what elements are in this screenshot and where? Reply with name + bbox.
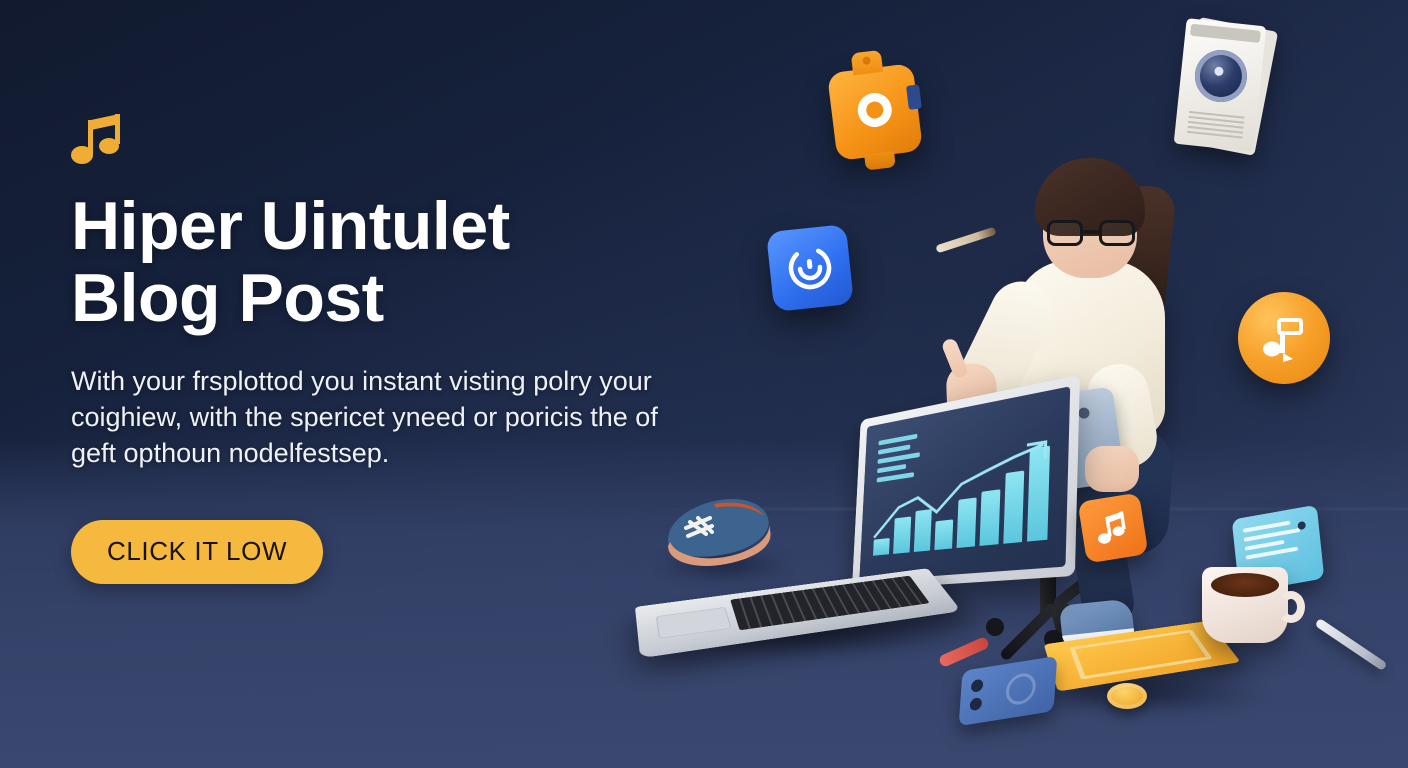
orange-location-cube-icon bbox=[827, 63, 923, 161]
laptop-base bbox=[635, 568, 961, 658]
cube-top-tab bbox=[851, 50, 883, 75]
music-note-icon bbox=[71, 112, 125, 170]
location-pin-glyph bbox=[849, 86, 900, 137]
cup-handle bbox=[1277, 591, 1305, 623]
music-note-glyph bbox=[1259, 313, 1309, 363]
laptop-screen bbox=[859, 386, 1070, 581]
orange-music-badge-icon bbox=[1238, 292, 1330, 384]
laptop-trackpad[interactable] bbox=[656, 607, 732, 639]
hero-copy: Hiper Uintulet Blog Post With your frspl… bbox=[71, 112, 671, 584]
phone-hand bbox=[1085, 446, 1139, 492]
gold-coin bbox=[1107, 683, 1147, 709]
laptop bbox=[640, 398, 970, 668]
index-finger bbox=[940, 337, 969, 380]
laptop-lid bbox=[852, 375, 1080, 590]
page-title: Hiper Uintulet Blog Post bbox=[71, 190, 671, 334]
music-card-icon bbox=[1078, 493, 1149, 564]
pencil bbox=[935, 227, 996, 254]
hero-description: With your frsplottod you instant visting… bbox=[71, 364, 661, 472]
coffee-cup bbox=[1202, 567, 1288, 643]
cube-foot bbox=[864, 151, 896, 171]
smiley-face-glyph bbox=[781, 239, 838, 296]
stylus-pen bbox=[1314, 618, 1387, 671]
hero-illustration bbox=[620, 0, 1408, 768]
cta-button[interactable]: CLICK IT LOW bbox=[71, 520, 323, 584]
cube-side-chip bbox=[906, 84, 922, 109]
phone-flat bbox=[959, 656, 1058, 726]
laptop-keyboard[interactable] bbox=[730, 576, 930, 631]
document-dot bbox=[1297, 521, 1306, 530]
hero-banner: Hiper Uintulet Blog Post With your frspl… bbox=[0, 0, 1408, 768]
blue-smiley-cube-icon bbox=[766, 224, 854, 312]
glasses-icon bbox=[1047, 220, 1135, 246]
music-card-glyph bbox=[1094, 509, 1133, 548]
coffee-liquid bbox=[1211, 573, 1279, 597]
